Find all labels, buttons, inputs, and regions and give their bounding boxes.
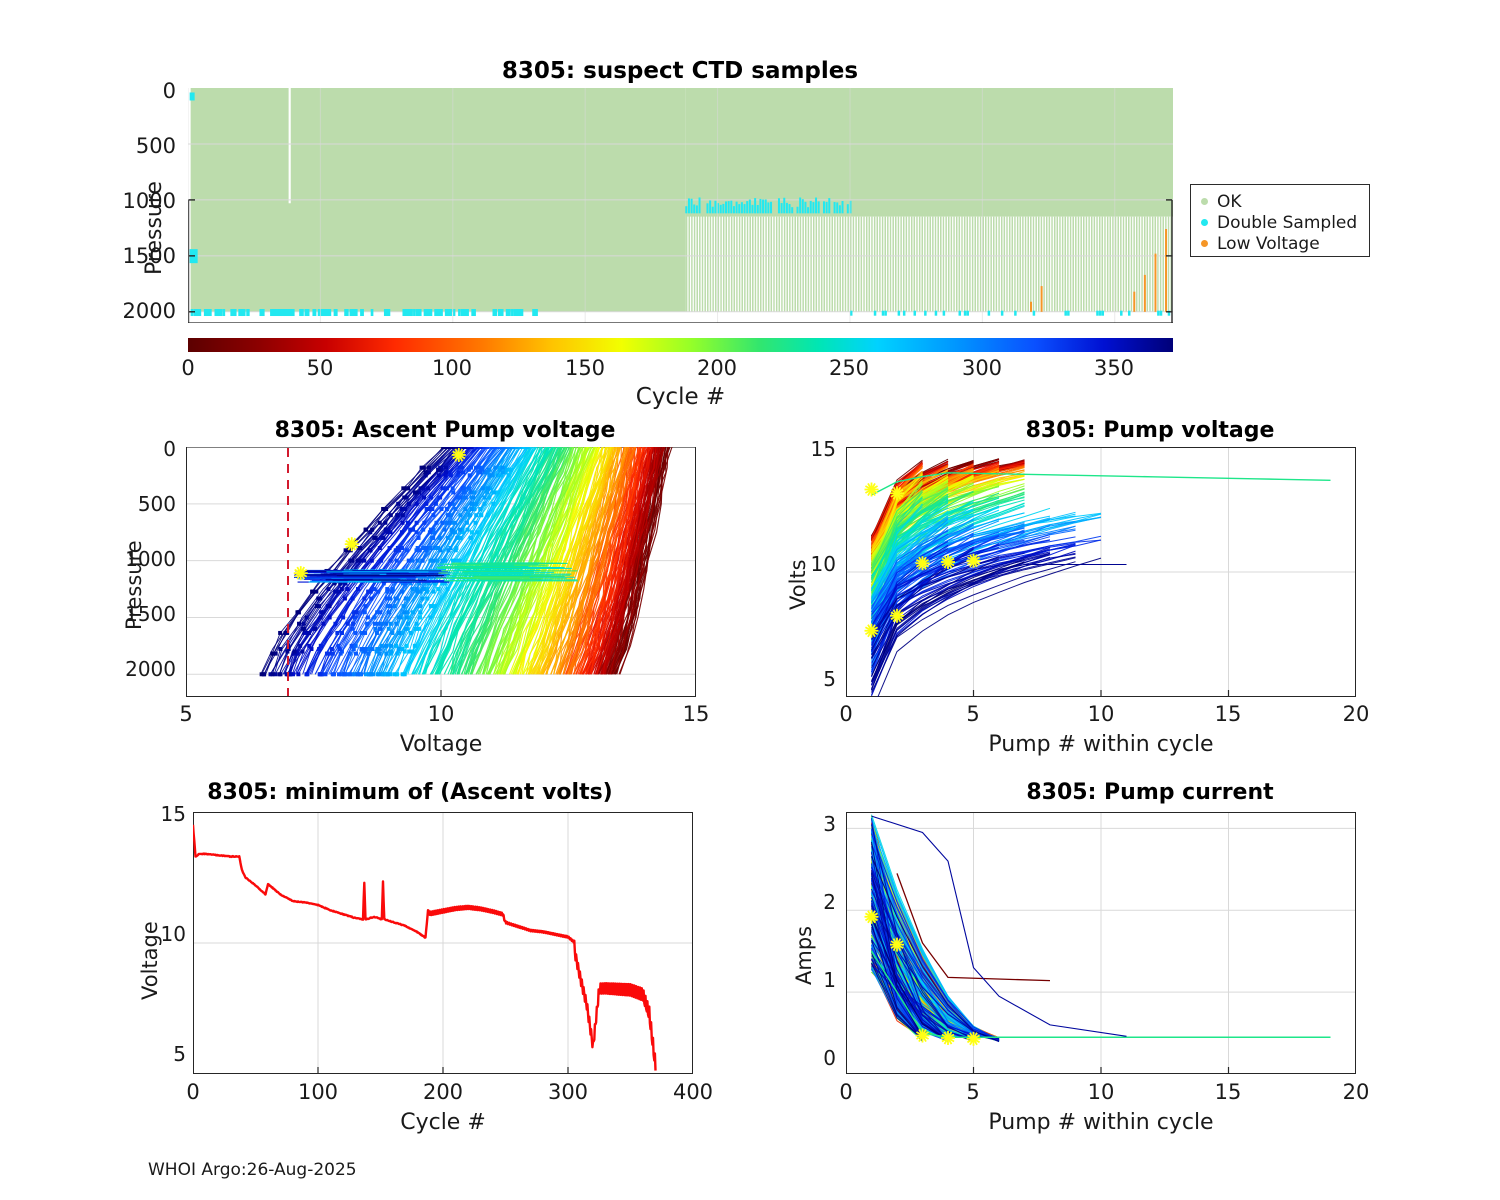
ytick-b2-3: 3 — [786, 812, 836, 836]
xtick-b2-5: 5 — [945, 1080, 1001, 1104]
legend-swatch-low-voltage — [1201, 240, 1208, 247]
xtick-m2-20: 20 — [1328, 702, 1384, 726]
xtick-top-0: 0 — [158, 356, 218, 380]
ytick-m1-1000: 1000 — [100, 547, 176, 571]
ytick-b2-0: 0 — [786, 1046, 836, 1070]
ytick-m1-1500: 1500 — [100, 602, 176, 626]
xtick-top-200: 200 — [687, 356, 747, 380]
axis-label-voltage-mid: Voltage — [186, 732, 696, 757]
ytick-m1-2000: 2000 — [100, 657, 176, 681]
legend-item-double-sampled: Double Sampled — [1197, 212, 1361, 233]
xtick-m1-5: 5 — [158, 702, 214, 726]
panel-minimum-ascent-volts: 8305: minimum of (Ascent volts) Voltage … — [0, 770, 750, 1140]
xtick-b2-0: 0 — [818, 1080, 874, 1104]
ytick-b1-10: 10 — [130, 922, 186, 946]
panel-pump-current: 8305: Pump current Amps 3 2 1 0 0 5 10 1… — [750, 770, 1500, 1140]
legend-swatch-ok — [1201, 198, 1208, 205]
xtick-b1-0: 0 — [165, 1080, 221, 1104]
xtick-top-100: 100 — [422, 356, 482, 380]
ytick-top-2000: 2000 — [110, 299, 176, 323]
ytick-m2-15: 15 — [780, 437, 836, 461]
xtick-b1-200: 200 — [415, 1080, 471, 1104]
panel-pump-voltage: 8305: Pump voltage Volts 15 10 5 0 5 10 … — [750, 400, 1500, 770]
xtick-m2-5: 5 — [945, 702, 1001, 726]
axis-label-pump-num-mid: Pump # within cycle — [846, 732, 1356, 757]
xtick-b2-15: 15 — [1200, 1080, 1256, 1104]
xtick-top-350: 350 — [1084, 356, 1144, 380]
panel-title-pump-current: 8305: Pump current — [890, 780, 1410, 805]
plot-pump-voltage — [846, 447, 1356, 697]
legend-suspect-ctd: OK Double Sampled Low Voltage — [1190, 184, 1370, 257]
ytick-b2-1: 1 — [786, 968, 836, 992]
panel-ascent-pump-voltage: 8305: Ascent Pump voltage Pressure 0 500… — [0, 400, 750, 770]
plot-suspect-ctd — [188, 88, 1173, 323]
ytick-top-500: 500 — [120, 134, 176, 158]
panel-title-ascent-pump-voltage: 8305: Ascent Pump voltage — [190, 418, 700, 443]
ytick-m1-500: 500 — [110, 492, 176, 516]
plot-ascent-pump-voltage — [186, 447, 696, 697]
xtick-b1-300: 300 — [540, 1080, 596, 1104]
xtick-m1-15: 15 — [668, 702, 724, 726]
panel-title-pump-voltage: 8305: Pump voltage — [890, 418, 1410, 443]
ytick-top-1500: 1500 — [110, 244, 176, 268]
ytick-m2-5: 5 — [780, 667, 836, 691]
xtick-top-150: 150 — [555, 356, 615, 380]
plot-minimum-ascent-volts — [193, 812, 693, 1074]
legend-swatch-double-sampled — [1201, 219, 1208, 226]
footer-credit: WHOI Argo:26-Aug-2025 — [148, 1160, 357, 1180]
xtick-m2-0: 0 — [818, 702, 874, 726]
xtick-b1-100: 100 — [290, 1080, 346, 1104]
legend-label-low-voltage: Low Voltage — [1217, 234, 1320, 254]
xtick-m2-15: 15 — [1200, 702, 1256, 726]
xtick-b2-20: 20 — [1328, 1080, 1384, 1104]
ytick-b1-5: 5 — [130, 1042, 186, 1066]
ytick-top-0: 0 — [130, 79, 176, 103]
xtick-top-300: 300 — [952, 356, 1012, 380]
xtick-b1-400: 400 — [665, 1080, 721, 1104]
ytick-b2-2: 2 — [786, 890, 836, 914]
xtick-m2-10: 10 — [1073, 702, 1129, 726]
plot-pump-current — [846, 812, 1356, 1074]
legend-label-ok: OK — [1217, 192, 1242, 212]
legend-item-low-voltage: Low Voltage — [1197, 233, 1361, 254]
legend-label-double-sampled: Double Sampled — [1217, 213, 1357, 233]
panel-suspect-ctd-samples: 8305: suspect CTD samples Pressure 0 500… — [0, 0, 1500, 400]
xtick-b2-10: 10 — [1073, 1080, 1129, 1104]
xtick-m1-10: 10 — [413, 702, 469, 726]
panel-title-minimum-ascent-volts: 8305: minimum of (Ascent volts) — [130, 780, 690, 805]
axis-label-cycle-bottom: Cycle # — [193, 1110, 693, 1135]
ytick-b1-15: 15 — [130, 802, 186, 826]
colorbar-cycle — [188, 338, 1173, 352]
ytick-m2-10: 10 — [780, 552, 836, 576]
axis-label-pump-num-bottom: Pump # within cycle — [846, 1110, 1356, 1135]
xtick-top-250: 250 — [819, 356, 879, 380]
panel-title-suspect-ctd: 8305: suspect CTD samples — [190, 58, 1170, 84]
ytick-top-1000: 1000 — [110, 189, 176, 213]
ytick-m1-0: 0 — [120, 437, 176, 461]
xtick-top-50: 50 — [290, 356, 350, 380]
legend-item-ok: OK — [1197, 191, 1361, 212]
